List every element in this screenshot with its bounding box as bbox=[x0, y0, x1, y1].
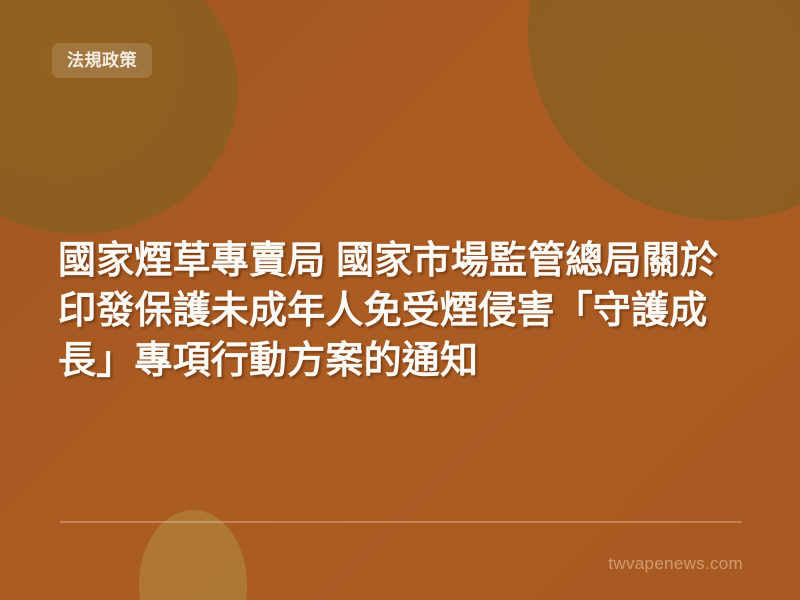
page-title: 國家煙草專賣局 國家市場監管總局關於印發保護未成年人免受煙侵害「守護成長」專項行… bbox=[58, 236, 748, 386]
site-watermark: twvapenews.com bbox=[608, 555, 743, 572]
category-badge-label: 法規政策 bbox=[67, 52, 137, 69]
article-hero-card: 法規政策 國家煙草專賣局 國家市場監管總局關於印發保護未成年人免受煙侵害「守護成… bbox=[0, 0, 800, 600]
category-badge[interactable]: 法規政策 bbox=[52, 43, 152, 78]
footer-divider bbox=[60, 521, 742, 523]
